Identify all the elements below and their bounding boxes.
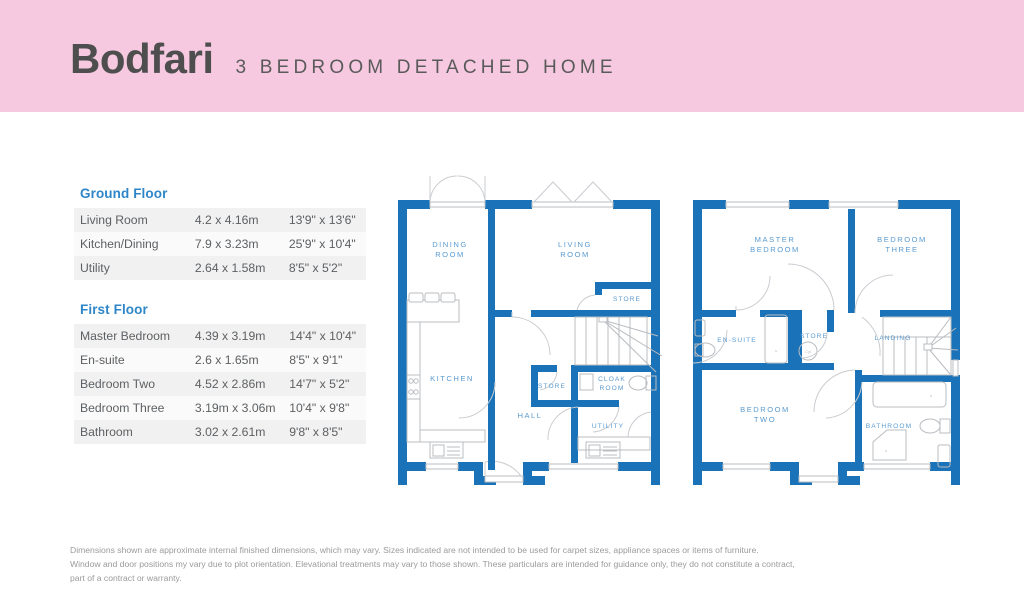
room-label-master-bedroom: MASTER [755,235,796,244]
disclaimer-line-3: part of a contract or warranty. [70,572,960,586]
room-label-store: STORE [800,333,828,340]
disclaimer-line-2: Window and door positions my vary due to… [70,558,960,572]
utility-units [578,437,650,458]
ff-window-bed2 [723,464,770,469]
ff-window-master [726,202,789,207]
room-name: Bedroom Three [74,396,195,420]
wall-store-upper-top [595,282,655,289]
room-label-store-upper: STORE [613,296,641,303]
page-title: Bodfari [70,38,214,80]
table-row: Bedroom Two 4.52 x 2.86m 14'7" x 5'2" [74,372,366,396]
header-band: Bodfari 3 BEDROOM DETACHED HOME [0,0,1024,112]
room-label-cloak-room-line2: ROOM [600,385,625,392]
ff-wall-store-right [827,310,834,332]
table-row: Utility 2.64 x 1.58m 8'5" x 5'2" [74,256,366,280]
staircase-first [883,317,958,375]
wall-internal-kitchen-hall [488,310,495,382]
first-floor-table: Master Bedroom 4.39 x 3.19m 14'4" x 10'4… [74,324,366,444]
room-label-store-lower: STORE [538,383,566,390]
room-label-hall: HALL [518,411,543,420]
ff-window-bathroom [864,464,930,469]
room-metric: 2.6 x 1.65m [195,348,289,372]
room-label-bedroom-two-line2: TWO [754,415,776,424]
room-metric: 2.64 x 1.58m [195,256,289,280]
main-content: Ground Floor Living Room 4.2 x 4.16m 13'… [0,112,1024,527]
room-name: Living Room [74,208,195,232]
room-imperial: 25'9" x 10'4" [289,232,366,256]
wall-bottom-left [398,462,426,471]
room-label-master-bedroom-line2: BEDROOM [750,245,800,254]
room-name: En-suite [74,348,195,372]
page-subtitle: 3 BEDROOM DETACHED HOME [236,58,617,77]
wall-top-mid [485,200,532,209]
ground-floor-heading: Ground Floor [74,186,366,208]
footer: Dimensions shown are approximate interna… [0,527,1024,609]
cylinder-label: Cyl [805,349,811,354]
room-label-living-room-line2: ROOM [560,250,590,259]
table-row: En-suite 2.6 x 1.65m 8'5" x 9'1" [74,348,366,372]
wall-left [398,200,407,485]
bath-marker: s [930,393,932,398]
ff-wall-top-mid [789,200,829,209]
ff-wall-left [693,200,702,485]
ground-floor-table: Living Room 4.2 x 4.16m 13'9" x 13'6" Ki… [74,208,366,280]
first-floor-details: s Cyl s s [693,235,958,467]
wall-internal-hall-north-right [531,310,601,317]
ff-wall-porch-right-sill [838,476,860,485]
ground-floor-plan: DINING ROOM LIVING ROOM KITCHEN HALL STO… [398,176,662,485]
table-row: Kitchen/Dining 7.9 x 3.23m 25'9" x 10'4" [74,232,366,256]
header-title-group: Bodfari 3 BEDROOM DETACHED HOME [70,38,617,80]
room-label-kitchen: KITCHEN [430,374,474,383]
room-label-landing: LANDING [874,335,911,342]
room-metric: 7.9 x 3.23m [195,232,289,256]
room-label-utility: UTILITY [592,423,624,430]
staircase-ground [575,317,662,372]
wall-internal-dining-living [488,209,495,315]
ff-wall-ensuite-right [788,310,795,370]
first-floor-heading: First Floor [74,280,366,324]
ff-wall-store-left [795,310,802,370]
ff-wall-master-bed3 [848,209,855,313]
wall-bottom-right [618,462,660,471]
room-label-ensuite: EN-SUITE [717,337,757,344]
table-row: Bathroom 3.02 x 2.61m 9'8" x 8'5" [74,420,366,444]
room-name: Bedroom Two [74,372,195,396]
room-label-dining-room: DINING [432,240,468,249]
room-metric: 3.19m x 3.06m [195,396,289,420]
room-name: Kitchen/Dining [74,232,195,256]
room-dimensions-panel: Ground Floor Living Room 4.2 x 4.16m 13'… [74,186,366,444]
ff-window-bed3 [829,202,898,207]
ensuite-shower-marker: s [775,348,777,353]
ff-wall-bottom-left [693,462,723,471]
room-name: Bathroom [74,420,195,444]
bay-window-living [532,182,613,207]
room-imperial: 14'7" x 5'2" [289,372,366,396]
wall-bottom-seg3 [523,462,549,471]
floor-plans: .w { fill:#1a72b8; } .fx { fill:none; st… [390,160,990,500]
ff-wall-top-right [898,200,960,209]
room-label-cloak-room: CLOAK [598,376,626,383]
wall-right [651,200,660,485]
room-imperial: 8'5" x 5'2" [289,256,366,280]
wall-store-lower-left [531,365,538,407]
table-row: Living Room 4.2 x 4.16m 13'9" x 13'6" [74,208,366,232]
ff-wall-store-bottom [795,363,834,370]
room-label-living-room: LIVING [558,240,592,249]
room-metric: 4.52 x 2.86m [195,372,289,396]
wall-store-upper-left [595,282,602,295]
room-label-bedroom-three: BEDROOM [877,235,927,244]
room-name: Utility [74,256,195,280]
ff-wall-ensuite-top [693,310,736,317]
room-metric: 3.02 x 2.61m [195,420,289,444]
room-imperial: 8'5" x 9'1" [289,348,366,372]
room-imperial: 13'9" x 13'6" [289,208,366,232]
room-label-dining-room-line2: ROOM [435,250,465,259]
ff-window-landing [953,360,958,376]
french-doors-dining [430,176,485,207]
room-label-bedroom-three-line2: THREE [885,245,918,254]
room-metric: 4.39 x 3.19m [195,324,289,348]
wall-store-upper-bottom [595,310,655,317]
wall-cloak-top [571,365,660,372]
disclaimer-line-1: Dimensions shown are approximate interna… [70,544,960,558]
room-label-bathroom: BATHROOM [866,423,912,430]
table-row: Bedroom Three 3.19m x 3.06m 10'4" x 9'8" [74,396,366,420]
room-imperial: 14'4" x 10'4" [289,324,366,348]
room-imperial: 10'4" x 9'8" [289,396,366,420]
wall-utility-left [571,407,578,463]
ff-wall-right [951,200,960,360]
window-kitchen [426,464,458,469]
shower-marker: s [885,448,887,453]
room-imperial: 9'8" x 8'5" [289,420,366,444]
disclaimer-text: Dimensions shown are approximate interna… [70,544,960,586]
room-name: Master Bedroom [74,324,195,348]
room-metric: 4.2 x 4.16m [195,208,289,232]
room-label-bedroom-two: BEDROOM [740,405,790,414]
ff-wall-ensuite-bottom [693,363,795,370]
window-utility [549,464,618,469]
ff-wall-bathroom-north [862,375,951,382]
ff-wall-landing-north [880,310,951,317]
table-row: Master Bedroom 4.39 x 3.19m 14'4" x 10'4… [74,324,366,348]
wall-porch-right-sill [523,476,545,485]
wall-cloak-bottom [531,400,619,407]
ff-window-porch [799,476,838,482]
ff-wall-landing-bed2 [855,370,862,465]
